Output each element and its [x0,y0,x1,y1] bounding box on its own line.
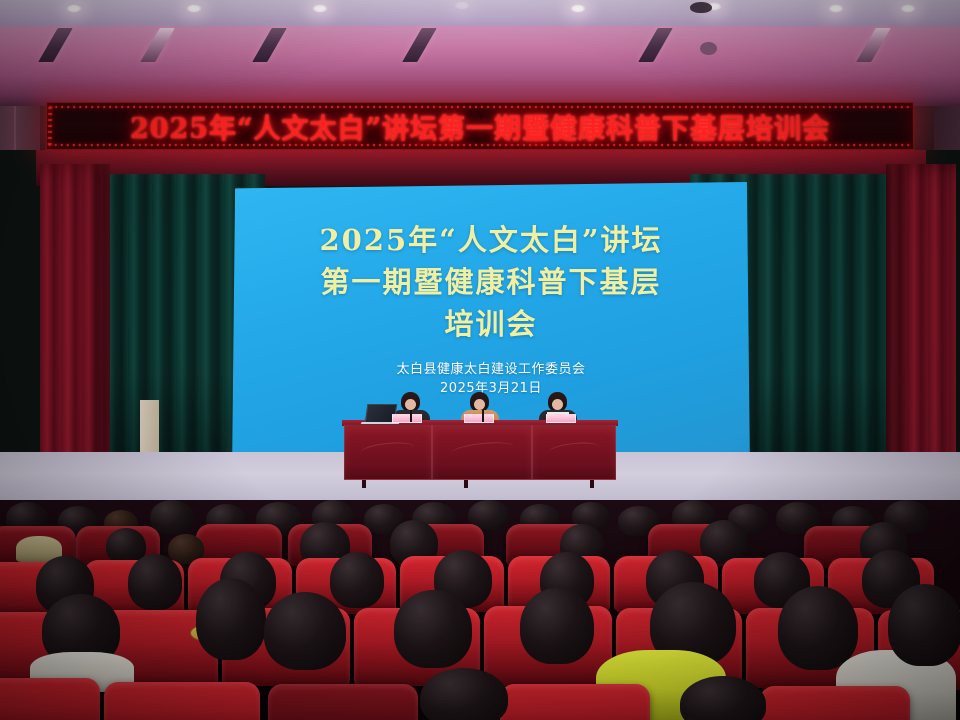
table-panel [532,424,616,480]
audience-head [888,584,960,666]
panelist-face [405,399,416,410]
downlight-icon [66,4,82,13]
ceiling-dome-fixture [700,42,717,55]
seat[interactable] [0,678,100,720]
slot-fixture-icon [856,28,891,62]
slot-fixture-icon [38,28,73,62]
audience-head [394,590,472,668]
stage-curtain-red-left [40,164,110,500]
seat[interactable] [104,682,260,720]
stage-curtain-red-right [886,164,956,500]
screen-title-line-3: 培训会 [319,304,662,346]
panelist-head [548,392,567,412]
name-card [392,414,422,423]
audience-seating: 03 03 [0,500,960,720]
panelist-head [470,392,489,412]
table-leg [464,480,468,488]
audience-head [420,668,508,720]
screen-title-line-2: 第一期暨健康科普下基层 [319,262,662,304]
downlight-icon [570,4,586,13]
led-banner-text: 2025年“人文太白”讲坛第一期暨健康科普下基层培训会 [47,107,914,146]
audience-head [264,592,346,670]
slot-fixture-icon [638,28,673,62]
screen-organization: 太白县健康太白建设工作委员会 [396,361,585,380]
name-card [464,414,494,423]
table-panel [344,424,432,480]
microphone-icon [410,410,412,422]
panelist-face [552,399,563,410]
slot-fixture-icon [402,28,437,62]
ceiling-dome-fixture [690,2,712,13]
screen-title: 2025年“人文太白”讲坛 第一期暨健康科普下基层 培训会 [319,220,662,345]
seat[interactable] [500,684,650,720]
led-banner: 2025年“人文太白”讲坛第一期暨健康科普下基层培训会 [46,102,915,150]
table-leg [590,480,594,488]
microphone-icon [482,410,484,422]
panelist-face [474,399,485,410]
table-leg [362,480,366,488]
audience-head [520,588,594,664]
audience-head [196,578,266,660]
downlight-icon [828,4,844,13]
seat[interactable] [268,684,418,720]
panelist-head [401,392,420,412]
seat[interactable] [760,686,910,720]
name-card [546,414,576,423]
downlight-icon [454,1,470,10]
downlight-icon [312,4,328,13]
audience-head [778,586,858,670]
slot-fixture-icon [140,28,175,62]
audience-head [128,554,182,610]
ceiling [0,0,960,108]
downlight-icon [900,4,916,13]
audience-head [330,552,384,608]
panel-table [344,424,616,486]
table-panel [432,424,532,480]
audience-head [150,500,194,534]
slot-fixture-icon [252,28,287,62]
screen-title-line-1: 2025年“人文太白”讲坛 [319,220,662,262]
auditorium-photo: 2025年“人文太白”讲坛 第一期暨健康科普下基层 培训会 太白县健康太白建设工… [0,0,960,720]
downlight-icon [186,4,202,13]
ceiling-light-strip [0,0,960,26]
